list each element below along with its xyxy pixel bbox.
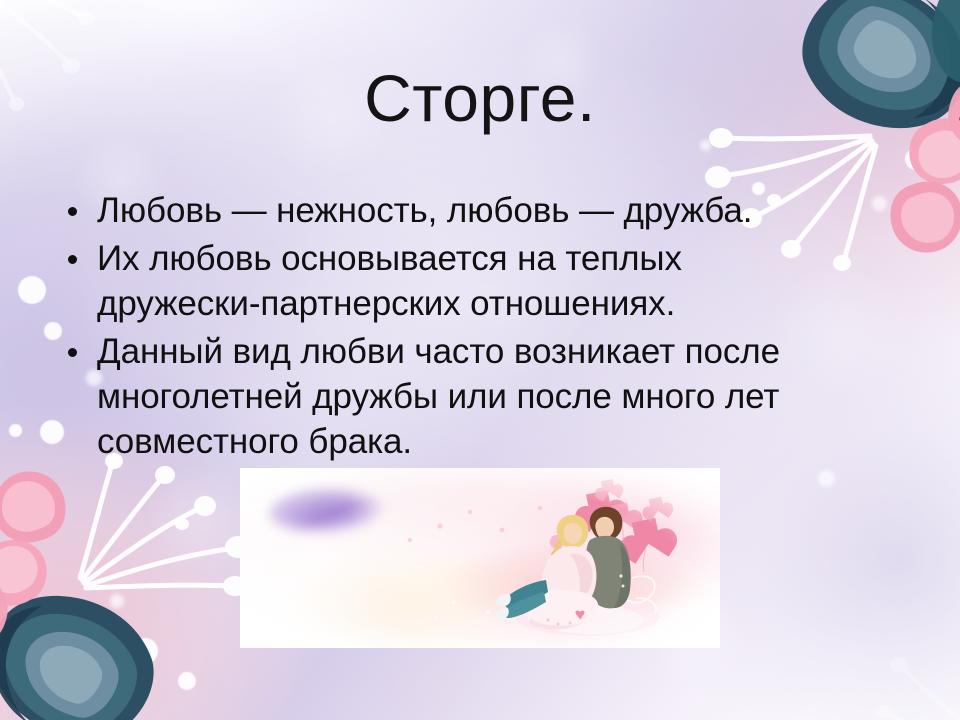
bokeh-dot [818, 470, 835, 487]
list-item: Любовь — нежность, любовь — дружба. [62, 188, 852, 233]
bokeh-dot [178, 672, 196, 690]
bokeh-dot [110, 594, 124, 608]
bokeh-dot [9, 424, 22, 437]
couple-illustration [240, 468, 720, 648]
slide-title: Сторге. [0, 62, 960, 135]
bullet-text: Их любовь основывается на теплых дружеск… [97, 236, 852, 326]
bullet-text: Данный вид любви часто возникает после м… [97, 329, 852, 464]
presentation-slide: Сторге. Любовь — нежность, любовь — друж… [0, 0, 960, 720]
bokeh-dot [700, 140, 711, 151]
bokeh-dot [44, 322, 62, 340]
illustration-vignette [240, 468, 720, 648]
list-item: Данный вид любви часто возникает после м… [62, 329, 852, 464]
floral-bottom-right-icon [810, 560, 960, 720]
bokeh-dot [18, 276, 46, 304]
bokeh-dot [132, 638, 158, 664]
bullet-list: Любовь — нежность, любовь — дружба. Их л… [62, 188, 852, 467]
bokeh-dot [40, 420, 64, 444]
bokeh-dot [872, 196, 887, 211]
bullet-icon [68, 348, 77, 357]
bullet-icon [68, 207, 77, 216]
bullet-icon [68, 255, 77, 264]
list-item: Их любовь основывается на теплых дружеск… [62, 236, 852, 326]
bokeh-dot [905, 148, 927, 170]
bullet-text: Любовь — нежность, любовь — дружба. [97, 188, 852, 233]
